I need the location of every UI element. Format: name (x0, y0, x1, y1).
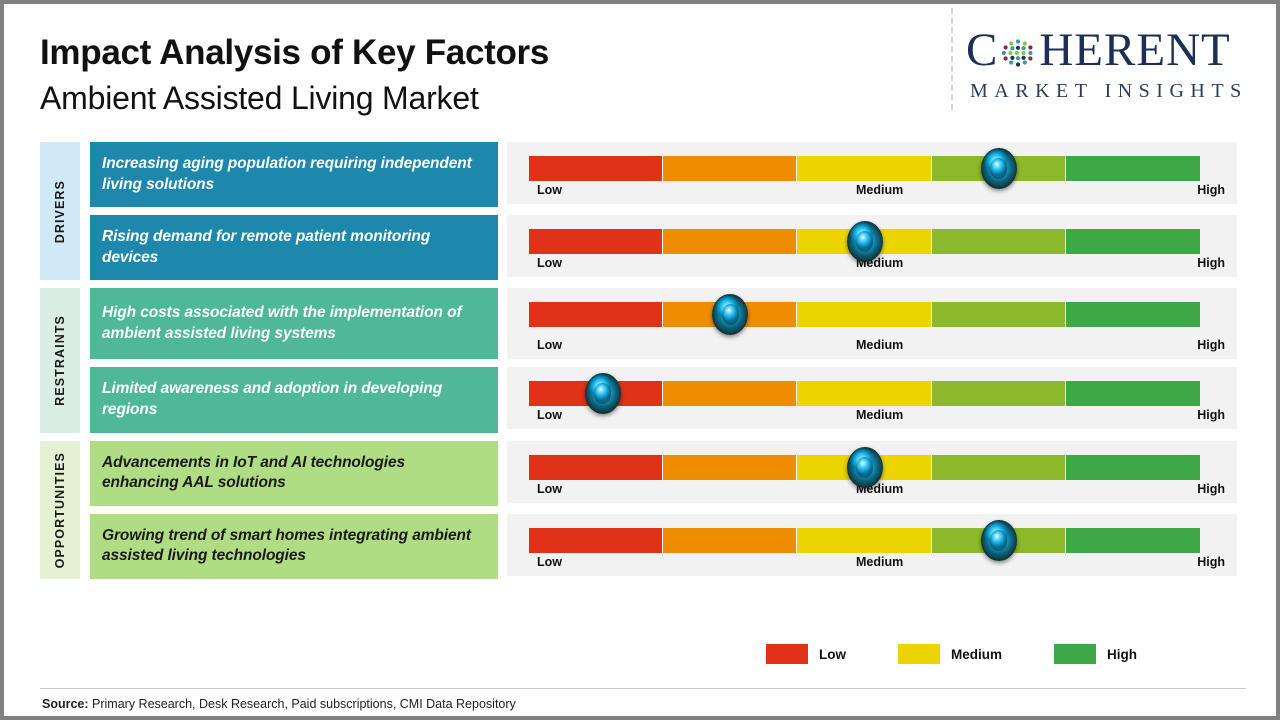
gauge-bar (529, 156, 1200, 181)
gauge-segment-4 (1066, 302, 1200, 327)
factor-group: OPPORTUNITIESAdvancements in IoT and AI … (4, 441, 1276, 579)
legend-item: High (1054, 644, 1137, 664)
factor-text: Advancements in IoT and AI technologies … (102, 453, 484, 494)
gauge-segment-1 (663, 156, 797, 181)
category-label: DRIVERS (53, 180, 67, 243)
gauge-segment-1 (663, 455, 797, 480)
gauge-scale: LowMediumHigh (529, 338, 1225, 352)
scale-label-low: Low (529, 183, 562, 197)
scale-label-medium: Medium (856, 338, 903, 352)
impact-gauge: LowMediumHigh (507, 514, 1237, 576)
gauge-segment-3 (932, 455, 1066, 480)
logo-tagline: MARKET INSIGHTS (970, 80, 1266, 103)
gauge-bar (529, 381, 1200, 406)
factor-row: Increasing aging population requiring in… (90, 142, 1237, 207)
impact-marker[interactable] (847, 221, 883, 262)
gauge-segment-2 (797, 381, 931, 406)
category-stripe-drivers: DRIVERS (40, 142, 80, 280)
scale-label-low: Low (529, 555, 562, 569)
impact-gauge: LowMediumHigh (507, 367, 1237, 429)
scale-label-low: Low (529, 482, 562, 496)
impact-marker[interactable] (712, 294, 748, 335)
factor-rows: High costs associated with the implement… (90, 288, 1237, 432)
scale-label-medium: Medium (856, 183, 903, 197)
factor-row: Growing trend of smart homes integrating… (90, 514, 1237, 579)
globe-icon (998, 33, 1038, 73)
scale-label-high: High (1197, 183, 1225, 197)
scale-label-high: High (1197, 482, 1225, 496)
factor-text: High costs associated with the implement… (102, 303, 484, 344)
category-label: OPPORTUNITIES (53, 452, 67, 568)
gauge-segment-2 (797, 528, 931, 553)
gauge-bar (529, 528, 1200, 553)
gauge-segment-4 (1066, 455, 1200, 480)
infographic-page: Impact Analysis of Key Factors Ambient A… (4, 4, 1276, 716)
impact-marker[interactable] (981, 148, 1017, 189)
factor-rows: Advancements in IoT and AI technologies … (90, 441, 1237, 579)
factor-text: Increasing aging population requiring in… (102, 154, 484, 195)
factor-text: Rising demand for remote patient monitor… (102, 227, 484, 268)
gauge-scale: LowMediumHigh (529, 183, 1225, 197)
coherent-market-insights-logo: C (966, 24, 1266, 110)
page-subtitle: Ambient Assisted Living Market (40, 79, 549, 117)
scale-label-high: High (1197, 256, 1225, 270)
logo-letter-c: C (966, 27, 998, 74)
category-label: RESTRAINTS (53, 315, 67, 406)
gauge-segment-2 (797, 302, 931, 327)
gauge-bar (529, 302, 1200, 327)
legend-label: Low (819, 647, 846, 662)
factor-group-inner: RESTRAINTSHigh costs associated with the… (4, 288, 1276, 432)
impact-marker[interactable] (847, 447, 883, 488)
gauge-segment-4 (1066, 156, 1200, 181)
impact-gauge: LowMediumHigh (507, 441, 1237, 503)
gauge-segment-1 (663, 381, 797, 406)
factor-group-inner: DRIVERSIncreasing aging population requi… (4, 142, 1276, 280)
gauge-segment-1 (663, 229, 797, 254)
factor-text-box: Rising demand for remote patient monitor… (90, 215, 498, 280)
factors-grid: DRIVERSIncreasing aging population requi… (4, 142, 1276, 587)
gauge-scale: LowMediumHigh (529, 408, 1225, 422)
factor-row: Advancements in IoT and AI technologies … (90, 441, 1237, 506)
gauge-scale: LowMediumHigh (529, 482, 1225, 496)
legend-label: Medium (951, 647, 1002, 662)
factor-text-box: High costs associated with the implement… (90, 288, 498, 359)
legend-swatch (766, 644, 808, 664)
scale-label-low: Low (529, 338, 562, 352)
impact-marker[interactable] (585, 373, 621, 414)
factor-group: DRIVERSIncreasing aging population requi… (4, 142, 1276, 280)
scale-label-high: High (1197, 408, 1225, 422)
title-block: Impact Analysis of Key Factors Ambient A… (40, 32, 549, 118)
category-stripe-opportunities: OPPORTUNITIES (40, 441, 80, 579)
gauge-segment-4 (1066, 229, 1200, 254)
impact-gauge: LowMediumHigh (507, 142, 1237, 204)
scale-label-medium: Medium (856, 408, 903, 422)
factor-text-box: Increasing aging population requiring in… (90, 142, 498, 207)
legend-item: Medium (898, 644, 1002, 664)
legend: LowMediumHigh (766, 644, 1137, 664)
gauge-segment-0 (529, 229, 663, 254)
scale-label-low: Low (529, 256, 562, 270)
category-stripe-restraints: RESTRAINTS (40, 288, 80, 432)
legend-item: Low (766, 644, 846, 664)
gauge-segment-4 (1066, 381, 1200, 406)
impact-marker[interactable] (981, 520, 1017, 561)
source-label: Source: (42, 697, 89, 711)
gauge-scale: LowMediumHigh (529, 555, 1225, 569)
legend-swatch (1054, 644, 1096, 664)
factor-text-box: Limited awareness and adoption in develo… (90, 367, 498, 432)
scale-label-high: High (1197, 338, 1225, 352)
factor-text-box: Growing trend of smart homes integrating… (90, 514, 498, 579)
factor-row: High costs associated with the implement… (90, 288, 1237, 359)
factor-row: Limited awareness and adoption in develo… (90, 367, 1237, 432)
gauge-segment-4 (1066, 528, 1200, 553)
scale-label-medium: Medium (856, 555, 903, 569)
gauge-segment-0 (529, 528, 663, 553)
scale-label-high: High (1197, 555, 1225, 569)
scale-label-low: Low (529, 408, 562, 422)
factor-group: RESTRAINTSHigh costs associated with the… (4, 288, 1276, 432)
factor-group-inner: OPPORTUNITIESAdvancements in IoT and AI … (4, 441, 1276, 579)
gauge-segment-0 (529, 302, 663, 327)
factor-text: Growing trend of smart homes integrating… (102, 526, 484, 567)
footer-divider (40, 688, 1246, 689)
legend-swatch (898, 644, 940, 664)
gauge-segment-3 (932, 381, 1066, 406)
impact-gauge: LowMediumHigh (507, 288, 1237, 359)
header-divider (951, 8, 953, 110)
factor-text-box: Advancements in IoT and AI technologies … (90, 441, 498, 506)
gauge-segment-1 (663, 528, 797, 553)
source-text: Primary Research, Desk Research, Paid su… (89, 697, 516, 711)
logo-wordmark: C (966, 24, 1266, 76)
factor-rows: Increasing aging population requiring in… (90, 142, 1237, 280)
gauge-scale: LowMediumHigh (529, 256, 1225, 270)
legend-label: High (1107, 647, 1137, 662)
logo-wordmark-rest: HERENT (1039, 27, 1230, 74)
gauge-segment-3 (932, 302, 1066, 327)
factor-row: Rising demand for remote patient monitor… (90, 215, 1237, 280)
gauge-segment-3 (932, 229, 1066, 254)
impact-gauge: LowMediumHigh (507, 215, 1237, 277)
gauge-segment-0 (529, 156, 663, 181)
gauge-segment-0 (529, 455, 663, 480)
source-note: Source: Primary Research, Desk Research,… (42, 697, 516, 711)
factor-text: Limited awareness and adoption in develo… (102, 379, 484, 420)
page-title: Impact Analysis of Key Factors (40, 32, 549, 73)
gauge-segment-2 (797, 156, 931, 181)
